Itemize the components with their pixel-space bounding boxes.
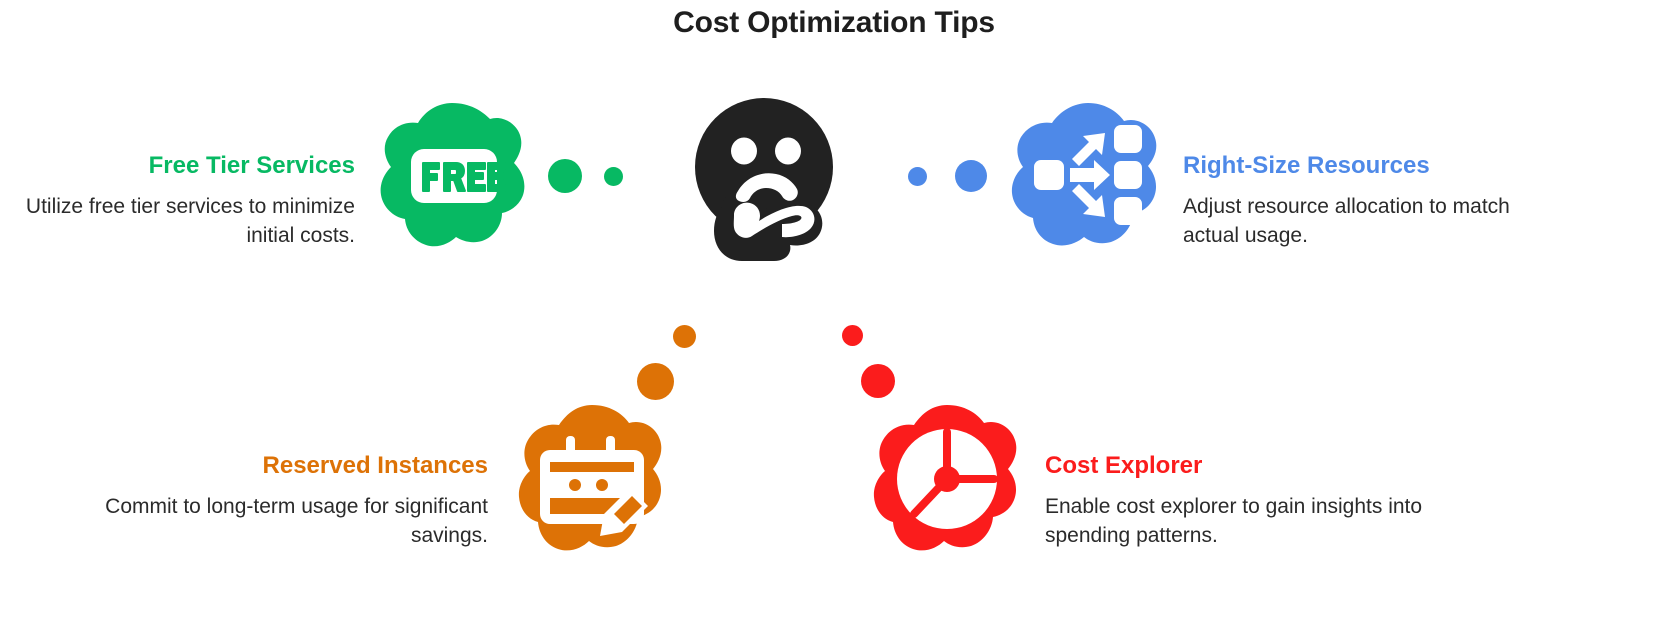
item-title-cost-explorer: Cost Explorer: [1045, 452, 1495, 480]
connector-dot-right-size: [955, 160, 987, 192]
thinking-face-icon: [688, 95, 840, 261]
item-title-free-tier: Free Tier Services: [10, 152, 355, 180]
connector-dot-free-tier: [548, 159, 582, 193]
connector-dot-cost-explorer: [861, 364, 895, 398]
item-right-size: Right-Size Resources Adjust resource all…: [1183, 152, 1528, 251]
item-title-right-size: Right-Size Resources: [1183, 152, 1528, 180]
connector-dot-reserved-instances: [637, 363, 674, 400]
page-title: Cost Optimization Tips: [0, 6, 1668, 40]
item-title-reserved-instances: Reserved Instances: [100, 452, 488, 480]
pie-clock-icon: [872, 402, 1022, 554]
calendar-pencil-icon: [518, 402, 666, 554]
connector-dot-cost-explorer: [842, 325, 863, 346]
item-description-cost-explorer: Enable cost explorer to gain insights in…: [1045, 492, 1495, 552]
connector-dot-reserved-instances: [673, 325, 696, 348]
item-cost-explorer: Cost Explorer Enable cost explorer to ga…: [1045, 452, 1495, 551]
resource-branching-icon: [1010, 101, 1162, 249]
connector-dot-right-size: [908, 167, 927, 186]
item-description-reserved-instances: Commit to long-term usage for significan…: [100, 492, 488, 552]
free-badge-icon: [378, 101, 526, 249]
item-free-tier: Free Tier Services Utilize free tier ser…: [10, 152, 355, 251]
connector-dot-free-tier: [604, 167, 623, 186]
item-description-right-size: Adjust resource allocation to match actu…: [1183, 192, 1528, 252]
infographic-canvas: Cost Optimization Tips: [0, 0, 1668, 626]
item-description-free-tier: Utilize free tier services to minimize i…: [10, 192, 355, 252]
item-reserved-instances: Reserved Instances Commit to long-term u…: [100, 452, 488, 551]
